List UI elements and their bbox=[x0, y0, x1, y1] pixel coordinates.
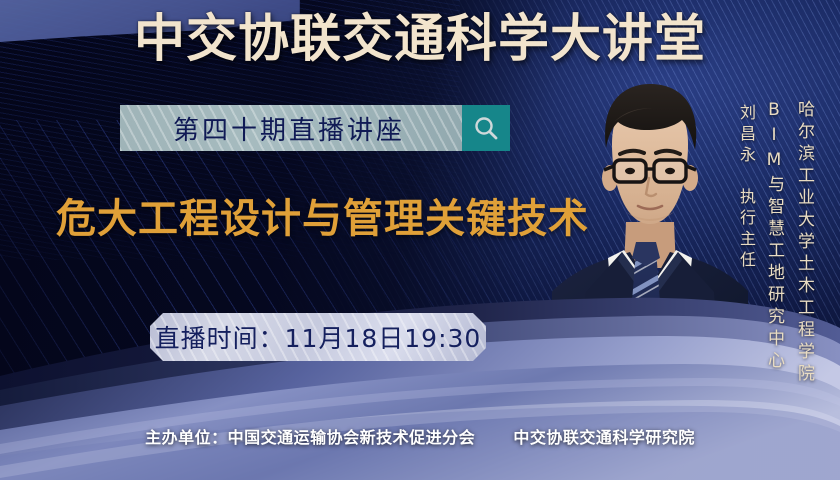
footer-organizers: 主办单位：中国交通运输协会新技术促进分会 中交协联交通科学研究院 bbox=[0, 424, 840, 448]
lecture-topic: 危大工程设计与管理关键技术 bbox=[56, 186, 589, 244]
search-button[interactable] bbox=[462, 105, 510, 151]
speaker-name: 刘昌永 bbox=[734, 104, 758, 167]
episode-banner: 第四十期直播讲座 bbox=[120, 105, 510, 151]
broadcast-time-badge: 直播时间：11月18日19:30 bbox=[150, 313, 486, 361]
decorative-silk-ribbon bbox=[0, 280, 840, 480]
speaker-center: BIM与智慧工地研究中心 bbox=[762, 100, 787, 373]
speaker-role: 执行主任 bbox=[734, 188, 758, 272]
footer-organizer-secondary: 中交协联交通科学研究院 bbox=[513, 428, 695, 447]
page-title: 中交协联交通科学大讲堂 bbox=[0, 14, 840, 65]
episode-banner-fill: 第四十期直播讲座 bbox=[120, 105, 462, 151]
episode-label: 第四十期直播讲座 bbox=[120, 105, 462, 151]
broadcast-time-text: 直播时间：11月18日19:30 bbox=[155, 319, 482, 355]
speaker-school: 哈尔滨工业大学土木工程学院 bbox=[792, 100, 817, 386]
search-icon bbox=[472, 114, 500, 142]
live-lecture-poster: 中交协联交通科学大讲堂 第四十期直播讲座 危大工程设计与管理关键技术 直播时间：… bbox=[0, 0, 840, 480]
footer-organizer-primary: 主办单位：中国交通运输协会新技术促进分会 bbox=[145, 428, 475, 447]
